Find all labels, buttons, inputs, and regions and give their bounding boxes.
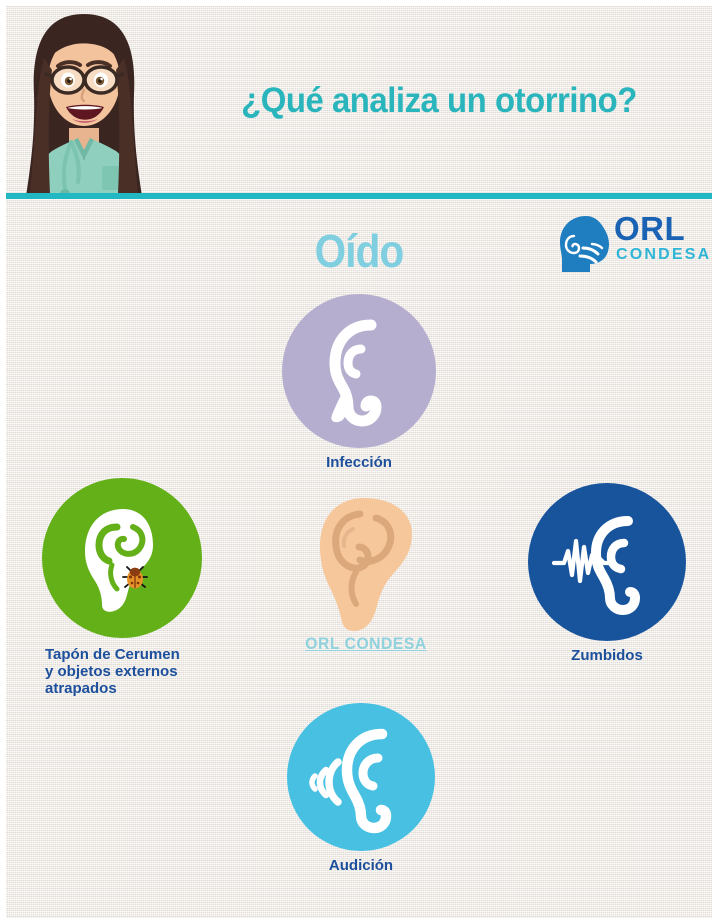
human-ear-icon xyxy=(306,494,426,634)
cerumen-label-line2: y objetos externos xyxy=(45,663,178,680)
ear-with-soundwave-icon xyxy=(542,497,672,627)
item-audicion[interactable]: Audición xyxy=(281,703,441,874)
infeccion-bubble xyxy=(282,294,436,448)
item-cerumen[interactable]: Tapón de Cerumen y objetos externos atra… xyxy=(33,478,211,697)
cerumen-label-line3: atrapados xyxy=(45,680,117,697)
ear-with-bug-icon xyxy=(57,493,187,623)
ear-with-sound-arcs-icon xyxy=(296,712,426,842)
zumbidos-label: Zumbidos xyxy=(521,647,693,664)
section-title: Oído xyxy=(48,224,669,278)
poster: ¿Qué analiza un otorrino? ORL CONDESA Oí… xyxy=(0,0,718,924)
header-divider xyxy=(6,193,712,199)
doctor-avatar-icon xyxy=(14,8,154,198)
infeccion-label: Infección xyxy=(274,454,444,471)
header: ¿Qué analiza un otorrino? xyxy=(6,6,712,198)
avatar xyxy=(14,8,154,198)
cerumen-label-line1: Tapón de Cerumen xyxy=(45,646,180,663)
page-title: ¿Qué analiza un otorrino? xyxy=(182,6,695,196)
item-zumbidos[interactable]: Zumbidos xyxy=(521,483,693,664)
watermark-caption: ORL CONDESA xyxy=(269,634,462,654)
item-infeccion[interactable]: Infección xyxy=(274,294,444,471)
audicion-bubble xyxy=(287,703,435,851)
cerumen-bubble xyxy=(42,478,202,638)
zumbidos-bubble xyxy=(528,483,686,641)
watermark-ear xyxy=(306,494,426,634)
cerumen-label: Tapón de Cerumen y objetos externos atra… xyxy=(33,646,211,697)
ear-with-drop-icon xyxy=(299,311,419,431)
audicion-label: Audición xyxy=(281,857,441,874)
